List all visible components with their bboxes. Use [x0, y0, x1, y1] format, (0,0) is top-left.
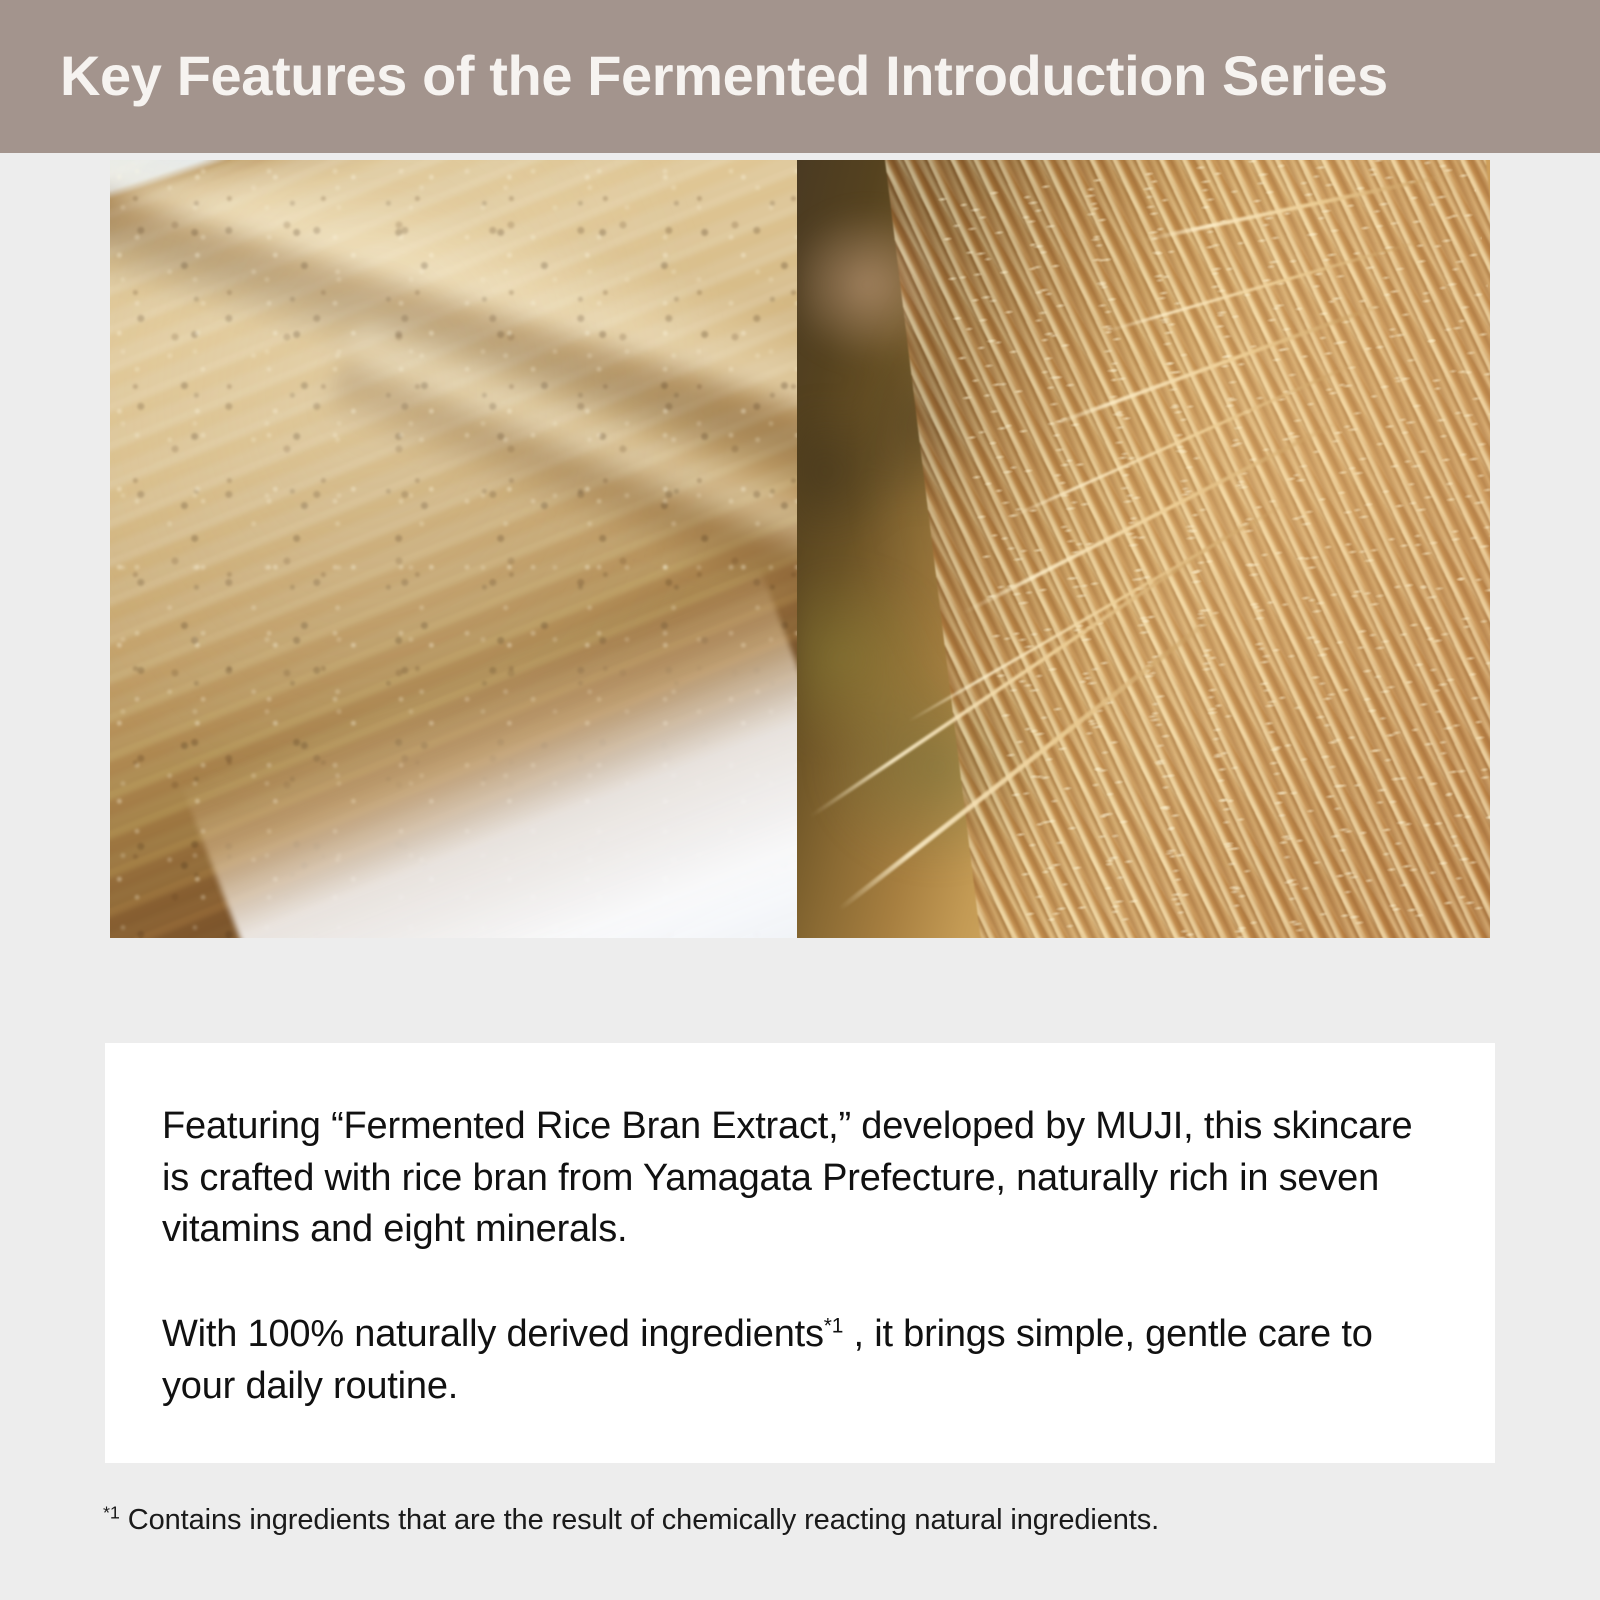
description-paragraph-1: Featuring “Fermented Rice Bran Extract,”… — [162, 1101, 1435, 1256]
page-title: Key Features of the Fermented Introducti… — [0, 47, 1388, 106]
footnote: *1 Contains ingredients that are the res… — [103, 1502, 1159, 1540]
header-band: Key Features of the Fermented Introducti… — [0, 0, 1600, 153]
description-card: Featuring “Fermented Rice Bran Extract,”… — [105, 1043, 1495, 1463]
rice-warm-light-overlay — [797, 160, 1490, 938]
footnote-text: Contains ingredients that are the result… — [120, 1504, 1159, 1536]
footnote-marker: *1 — [103, 1502, 120, 1522]
footnote-reference-marker: *1 — [824, 1314, 843, 1337]
fermented-rice-bran-powder-photo — [110, 160, 797, 938]
description-paragraph-2: With 100% naturally derived ingredients*… — [162, 1309, 1435, 1412]
paragraph-2-lead-text: With 100% naturally derived ingredients — [162, 1313, 824, 1355]
page-root: Key Features of the Fermented Introducti… — [0, 0, 1600, 1600]
photo-strip — [110, 160, 1490, 938]
rice-stalks-photo — [797, 160, 1490, 938]
